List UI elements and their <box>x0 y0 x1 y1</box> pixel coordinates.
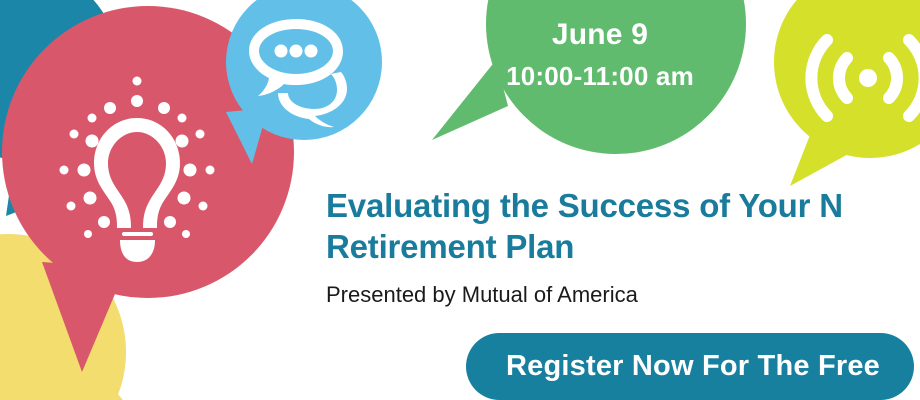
teal-speech-bubble <box>0 0 118 216</box>
event-datetime: June 9 10:00-11:00 am <box>470 18 730 93</box>
headline-line-2: Retirement Plan <box>326 227 920 268</box>
page-title: Evaluating the Success of Your N Retirem… <box>326 186 920 268</box>
event-date: June 9 <box>470 18 730 52</box>
promotional-banner: June 9 10:00-11:00 am Evaluating the Suc… <box>0 0 920 400</box>
headline-line-1: Evaluating the Success of Your N <box>326 187 843 224</box>
register-button[interactable]: Register Now For The Free <box>466 333 914 400</box>
presenter-subtitle: Presented by Mutual of America <box>326 282 920 308</box>
broadcast-signal-icon <box>811 40 920 116</box>
blue-speech-bubble <box>226 0 382 164</box>
chat-bubbles-icon <box>249 19 347 127</box>
cta-container: Register Now For The Free <box>466 333 914 400</box>
copy-block: Evaluating the Success of Your N Retirem… <box>326 186 920 308</box>
lightbulb-idea-icon <box>60 77 215 263</box>
lime-speech-bubble <box>774 0 920 186</box>
event-time: 10:00-11:00 am <box>470 60 730 94</box>
red-speech-bubble <box>2 6 294 372</box>
yellow-speech-bubble <box>0 234 128 400</box>
